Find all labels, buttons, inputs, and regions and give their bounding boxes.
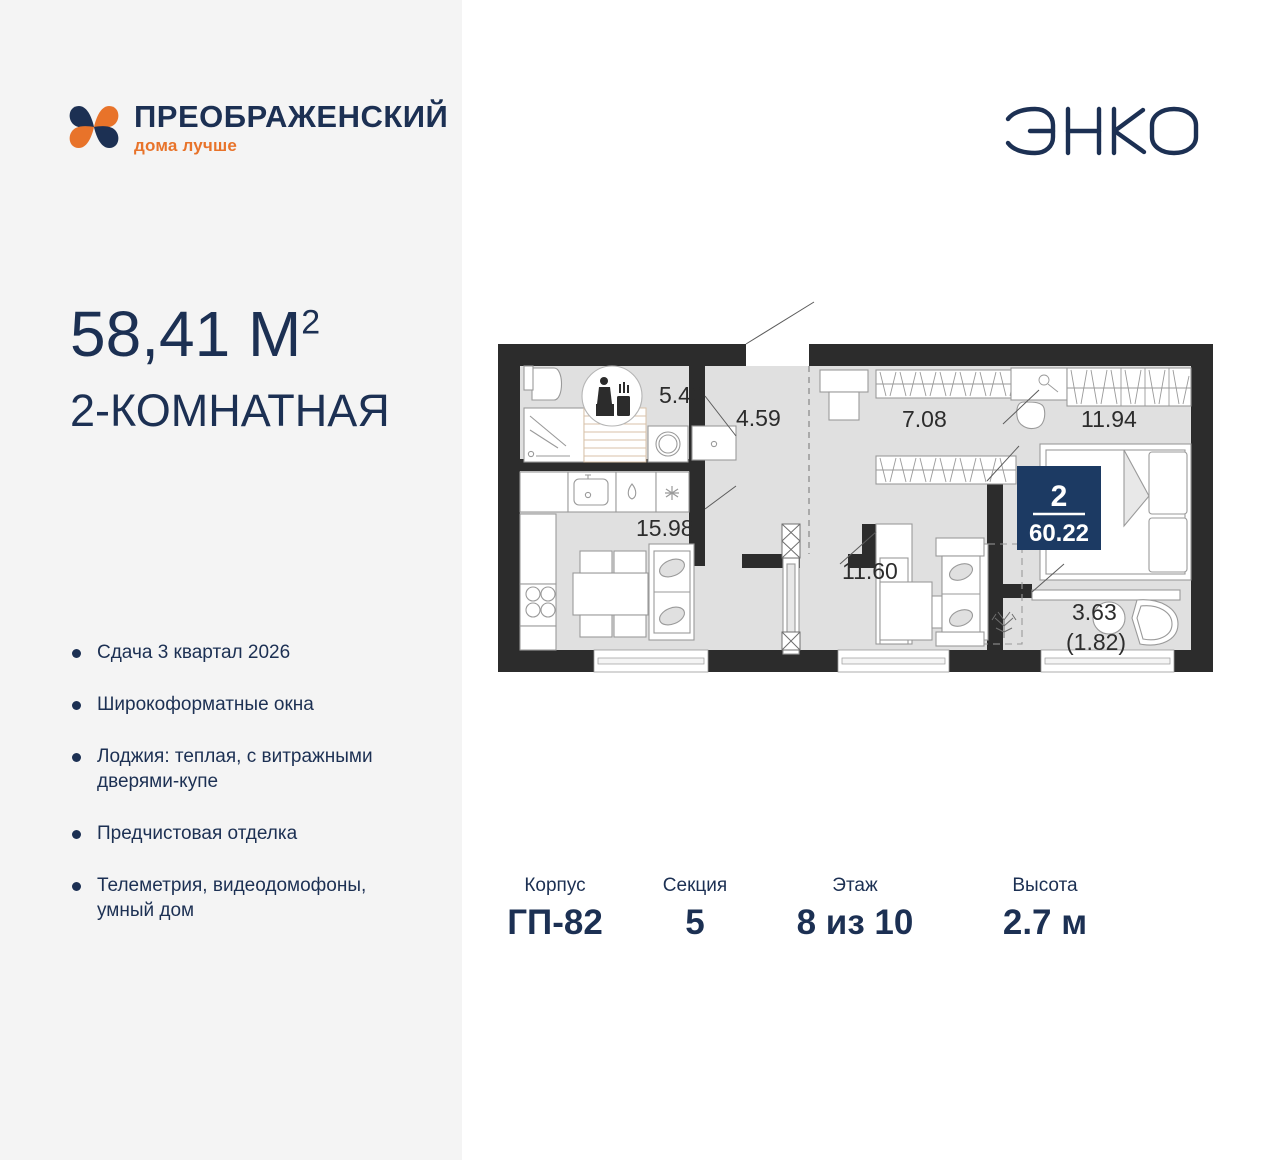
info-value: 5 <box>685 905 704 940</box>
four-petal-butterfly-logo-icon <box>68 98 120 156</box>
apartment-rooms-label: 2-КОМНАТНАЯ <box>70 388 390 433</box>
badge-total-area: 60.22 <box>1029 520 1089 547</box>
room-area-hall: 4.59 <box>736 405 781 431</box>
room-area-bedroom-small: 11.60 <box>842 558 898 584</box>
feature-label: Лоджия: теплая, с витражными дверями-куп… <box>97 744 402 794</box>
building-info-bar: Корпус ГП-82 Секция 5 Этаж 8 из 10 Высот… <box>480 876 1160 940</box>
bullet-icon <box>72 830 81 839</box>
room-area-kitchen-living: 15.98 <box>636 515 694 541</box>
info-cell-korpus: Корпус ГП-82 <box>480 876 630 940</box>
info-cell-sektsiya: Секция 5 <box>630 876 760 940</box>
info-value: 2.7 м <box>1003 905 1087 940</box>
info-caption: Этаж <box>832 876 877 897</box>
laundry-vignette-icon <box>582 366 642 426</box>
info-cell-etazh: Этаж 8 из 10 <box>760 876 950 940</box>
apartment-area: 58,41 М2 <box>70 302 390 366</box>
floor-plan-page: ПРЕОБРАЖЕНСКИЙ дома лучше 58,41 М2 2-КОМ… <box>0 0 1280 1160</box>
brand-tagline: дома лучше <box>134 137 448 154</box>
right-plan-panel: 5.40 4.59 15.98 7.08 11.60 11.94 3.63 (1… <box>462 0 1280 1160</box>
feature-label: Широкоформатные окна <box>97 692 314 717</box>
enko-logo-icon <box>1002 104 1202 158</box>
bullet-icon <box>72 753 81 762</box>
bullet-icon <box>72 701 81 710</box>
info-value: ГП-82 <box>507 905 603 940</box>
room-area-loggia: 3.63 <box>1072 599 1117 625</box>
feature-label: Сдача 3 квартал 2026 <box>97 640 290 665</box>
feature-label: Телеметрия, видеодомофоны, умный дом <box>97 873 402 923</box>
feature-list: Сдача 3 квартал 2026 Широкоформатные окн… <box>72 640 402 951</box>
room-area-bedroom-master: 11.94 <box>1081 406 1137 432</box>
list-item: Телеметрия, видеодомофоны, умный дом <box>72 873 402 923</box>
bullet-icon <box>72 882 81 891</box>
left-info-panel: ПРЕОБРАЖЕНСКИЙ дома лучше 58,41 М2 2-КОМ… <box>0 0 462 1160</box>
list-item: Лоджия: теплая, с витражными дверями-куп… <box>72 744 402 794</box>
info-value: 8 из 10 <box>797 905 914 940</box>
list-item: Широкоформатные окна <box>72 692 402 717</box>
list-item: Сдача 3 квартал 2026 <box>72 640 402 665</box>
info-cell-vysota: Высота 2.7 м <box>950 876 1140 940</box>
floor-plan-drawing: 5.40 4.59 15.98 7.08 11.60 11.94 3.63 (1… <box>484 296 1228 720</box>
apartment-summary: 58,41 М2 2-КОМНАТНАЯ <box>70 302 390 433</box>
status-badge: 2 60.22 <box>1017 466 1101 550</box>
room-area-loggia-counted: (1.82) <box>1066 629 1126 655</box>
bullet-icon <box>72 649 81 658</box>
list-item: Предчистовая отделка <box>72 821 402 846</box>
room-area-corridor: 7.08 <box>902 406 947 432</box>
brand-block: ПРЕОБРАЖЕНСКИЙ дома лучше <box>68 98 448 156</box>
feature-label: Предчистовая отделка <box>97 821 297 846</box>
apartment-area-value: 58,41 М <box>70 298 301 370</box>
badge-room-count: 2 <box>1051 480 1068 513</box>
info-caption: Секция <box>663 876 727 897</box>
info-caption: Корпус <box>524 876 585 897</box>
area-unit-superscript: 2 <box>301 304 320 342</box>
room-area-bathroom: 5.40 <box>659 382 704 408</box>
brand-name: ПРЕОБРАЖЕНСКИЙ <box>134 101 448 132</box>
info-caption: Высота <box>1012 876 1077 897</box>
